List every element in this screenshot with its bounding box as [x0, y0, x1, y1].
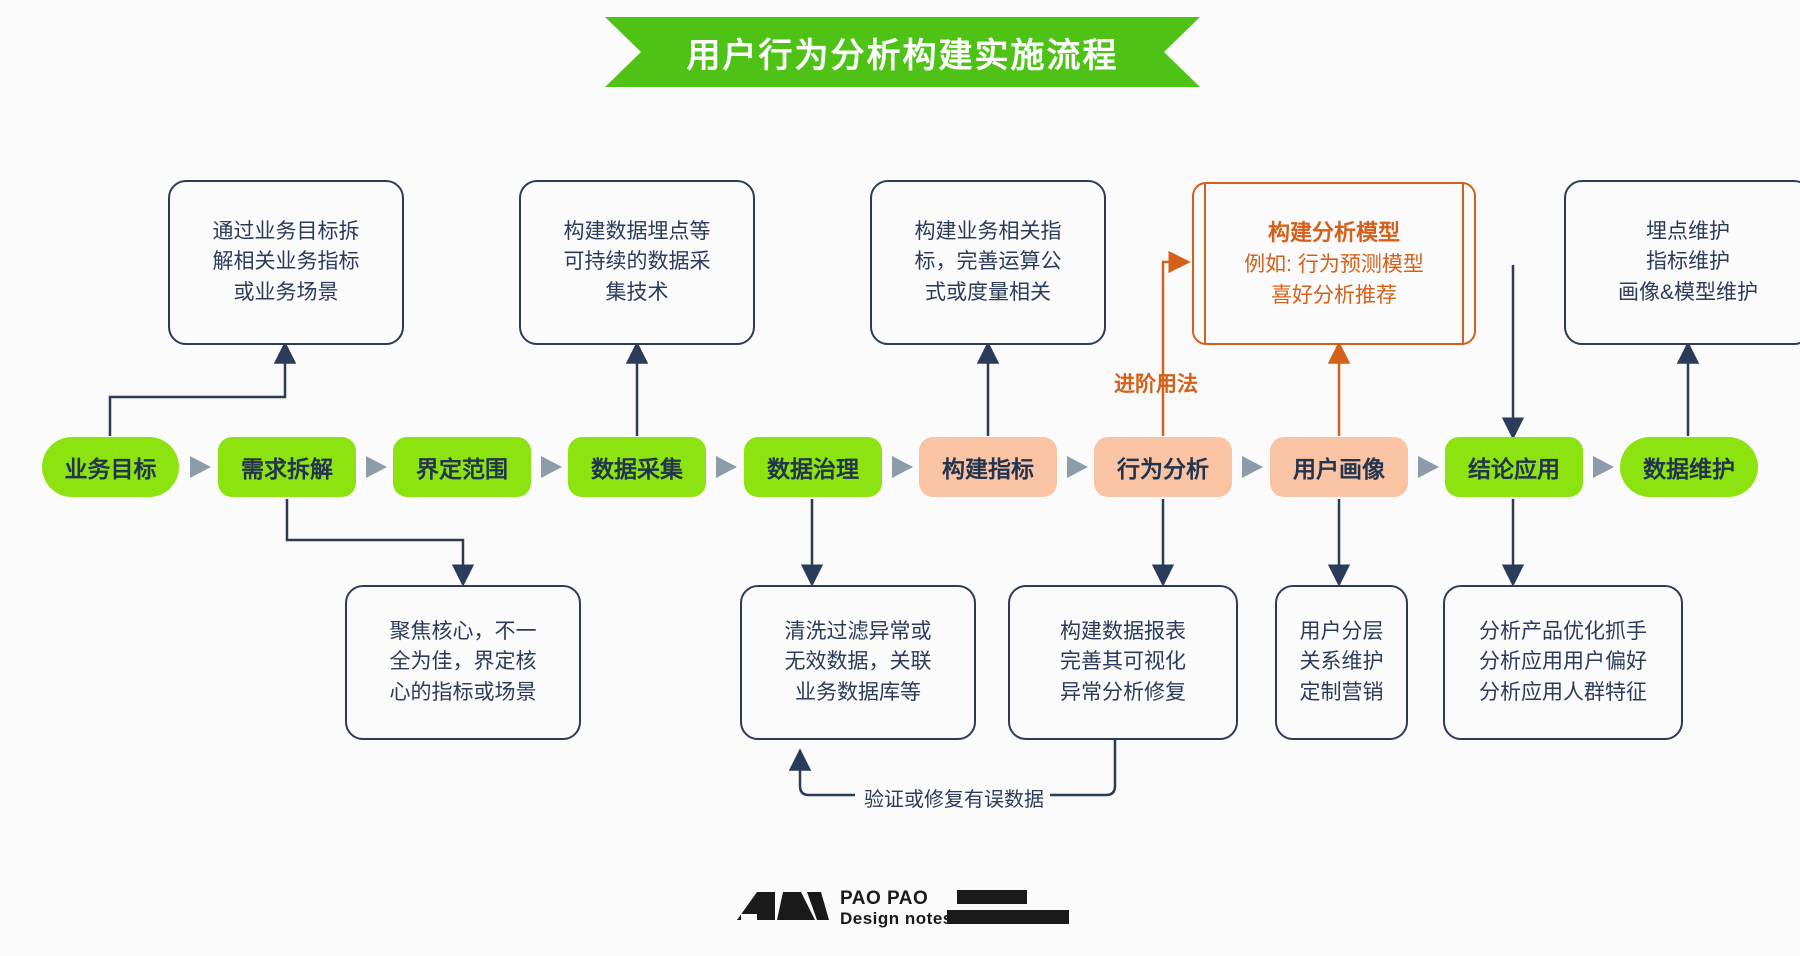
stage-pill-business-goal[interactable]: 业务目标	[42, 437, 179, 497]
arrow-separator-icon	[541, 456, 562, 478]
note-line: 指标维护	[1646, 247, 1730, 277]
note-box-5: 聚焦核心，不一 全为佳，界定核 心的指标或场景	[345, 585, 581, 740]
arrow-separator-icon	[892, 456, 913, 478]
advanced-model-heading: 构建分析模型	[1268, 216, 1400, 249]
arrow-separator-icon	[1418, 456, 1439, 478]
note-box-2: 构建数据埋点等 可持续的数据采 集技术	[519, 180, 755, 345]
note-box-4: 埋点维护 指标维护 画像&模型维护	[1564, 180, 1800, 345]
page-title: 用户行为分析构建实施流程	[687, 28, 1119, 77]
note-line: 聚焦核心，不一	[390, 617, 537, 647]
logo-bar-bottom	[947, 910, 1069, 924]
advanced-model-inner: 构建分析模型 例如: 行为预测模型 喜好分析推荐	[1204, 183, 1464, 344]
note-line: 清洗过滤异常或	[785, 617, 932, 647]
arrow-separator-icon	[1067, 456, 1088, 478]
note-line: 无效数据，关联	[785, 647, 932, 677]
advanced-branch-label: 进阶用法	[1114, 368, 1198, 398]
note-box-3: 构建业务相关指 标，完善运算公 式或度量相关	[870, 180, 1106, 345]
note-line: 喜好分析推荐	[1271, 280, 1397, 312]
note-line: 例如: 行为预测模型	[1244, 249, 1424, 281]
note-line: 定制营销	[1300, 678, 1384, 708]
note-line: 关系维护	[1300, 647, 1384, 677]
arrow-separator-icon	[716, 456, 737, 478]
arrow-separator-icon	[366, 456, 387, 478]
note-line: 构建业务相关指	[915, 217, 1062, 247]
note-line: 或业务场景	[234, 278, 339, 308]
note-box-7: 构建数据报表 完善其可视化 异常分析修复	[1008, 585, 1238, 740]
stage-pill-requirement-breakdown[interactable]: 需求拆解	[218, 437, 356, 497]
note-line: 埋点维护	[1646, 217, 1730, 247]
note-box-8: 用户分层 关系维护 定制营销	[1275, 585, 1408, 740]
note-line: 式或度量相关	[925, 278, 1051, 308]
note-box-6: 清洗过滤异常或 无效数据，关联 业务数据库等	[740, 585, 976, 740]
note-line: 标，完善运算公	[915, 247, 1062, 277]
logo-brand: PAO PAO	[840, 888, 953, 909]
feedback-loop-label: 验证或修复有误数据	[858, 783, 1050, 812]
stage-pill-build-metrics[interactable]: 构建指标	[919, 437, 1057, 497]
logo-tagline: Design notes	[840, 909, 953, 928]
note-box-1: 通过业务目标拆 解相关业务指标 或业务场景	[168, 180, 404, 345]
note-line: 通过业务目标拆	[213, 217, 360, 247]
feedback-line-left	[800, 752, 855, 795]
note-line: 解相关业务指标	[213, 247, 360, 277]
note-line: 心的指标或场景	[390, 678, 537, 708]
arrow-separator-icon	[1242, 456, 1263, 478]
connector-stage2-to-note5	[287, 499, 463, 583]
note-line: 分析应用人群特征	[1479, 678, 1647, 708]
note-line: 构建数据报表	[1060, 617, 1186, 647]
title-ribbon: 用户行为分析构建实施流程	[605, 17, 1200, 87]
advanced-model-box: 构建分析模型 例如: 行为预测模型 喜好分析推荐	[1192, 182, 1476, 345]
stage-pill-behavior-analysis[interactable]: 行为分析	[1094, 437, 1232, 497]
stage-pill-data-collection[interactable]: 数据采集	[568, 437, 706, 497]
footer-logo: PAO PAO Design notes	[735, 888, 1065, 936]
paopao-mark-icon	[735, 888, 831, 928]
note-line: 构建数据埋点等	[564, 217, 711, 247]
arrow-separator-icon	[190, 456, 211, 478]
note-box-9: 分析产品优化抓手 分析应用用户偏好 分析应用人群特征	[1443, 585, 1683, 740]
stage-pill-data-governance[interactable]: 数据治理	[744, 437, 882, 497]
stage-pill-data-maintenance[interactable]: 数据维护	[1620, 437, 1758, 497]
note-line: 用户分层	[1300, 617, 1384, 647]
arrow-separator-icon	[1593, 456, 1614, 478]
note-line: 异常分析修复	[1060, 678, 1186, 708]
note-line: 全为佳，界定核	[390, 647, 537, 677]
stage-pill-user-profile[interactable]: 用户画像	[1270, 437, 1408, 497]
note-line: 完善其可视化	[1060, 647, 1186, 677]
note-line: 分析应用用户偏好	[1479, 647, 1647, 677]
logo-wordmark: PAO PAO Design notes	[840, 888, 953, 928]
logo-bar-top	[957, 890, 1027, 904]
note-line: 画像&模型维护	[1618, 278, 1758, 308]
note-line: 分析产品优化抓手	[1479, 617, 1647, 647]
note-line: 集技术	[606, 278, 669, 308]
connector-stage1-to-note1	[110, 345, 285, 436]
note-line: 业务数据库等	[795, 678, 921, 708]
stage-pill-define-scope[interactable]: 界定范围	[393, 437, 531, 497]
diagram-canvas: 用户行为分析构建实施流程	[0, 0, 1800, 956]
note-line: 可持续的数据采	[564, 247, 711, 277]
stage-pill-conclusion-application[interactable]: 结论应用	[1445, 437, 1583, 497]
connector-advanced-branch	[1163, 262, 1187, 436]
